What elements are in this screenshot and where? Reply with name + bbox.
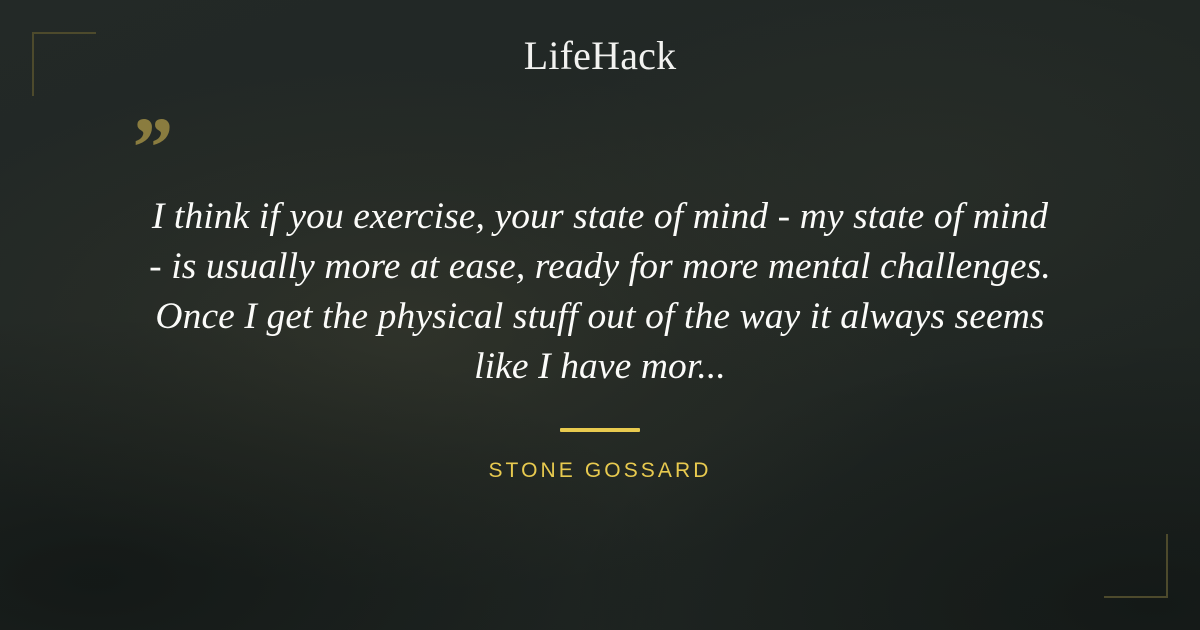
quote-line: - is usually more at ease, ready for mor… bbox=[80, 242, 1120, 292]
corner-bracket-bottom-right-icon bbox=[1104, 534, 1168, 598]
attribution-block: STONE GOSSARD bbox=[0, 428, 1200, 482]
quotation-mark-icon: ” bbox=[128, 104, 171, 190]
quote-line: I think if you exercise, your state of m… bbox=[80, 192, 1120, 242]
quote-card: LifeHack ” I think if you exercise, your… bbox=[0, 0, 1200, 630]
quote-line: like I have mor... bbox=[80, 342, 1120, 392]
quote-author: STONE GOSSARD bbox=[488, 460, 711, 481]
attribution-divider bbox=[560, 428, 640, 432]
quote-line: Once I get the physical stuff out of the… bbox=[80, 292, 1120, 342]
quote-block: I think if you exercise, your state of m… bbox=[80, 192, 1120, 392]
brand-header: LifeHack bbox=[0, 36, 1200, 76]
brand-logo-text: LifeHack bbox=[524, 36, 677, 76]
